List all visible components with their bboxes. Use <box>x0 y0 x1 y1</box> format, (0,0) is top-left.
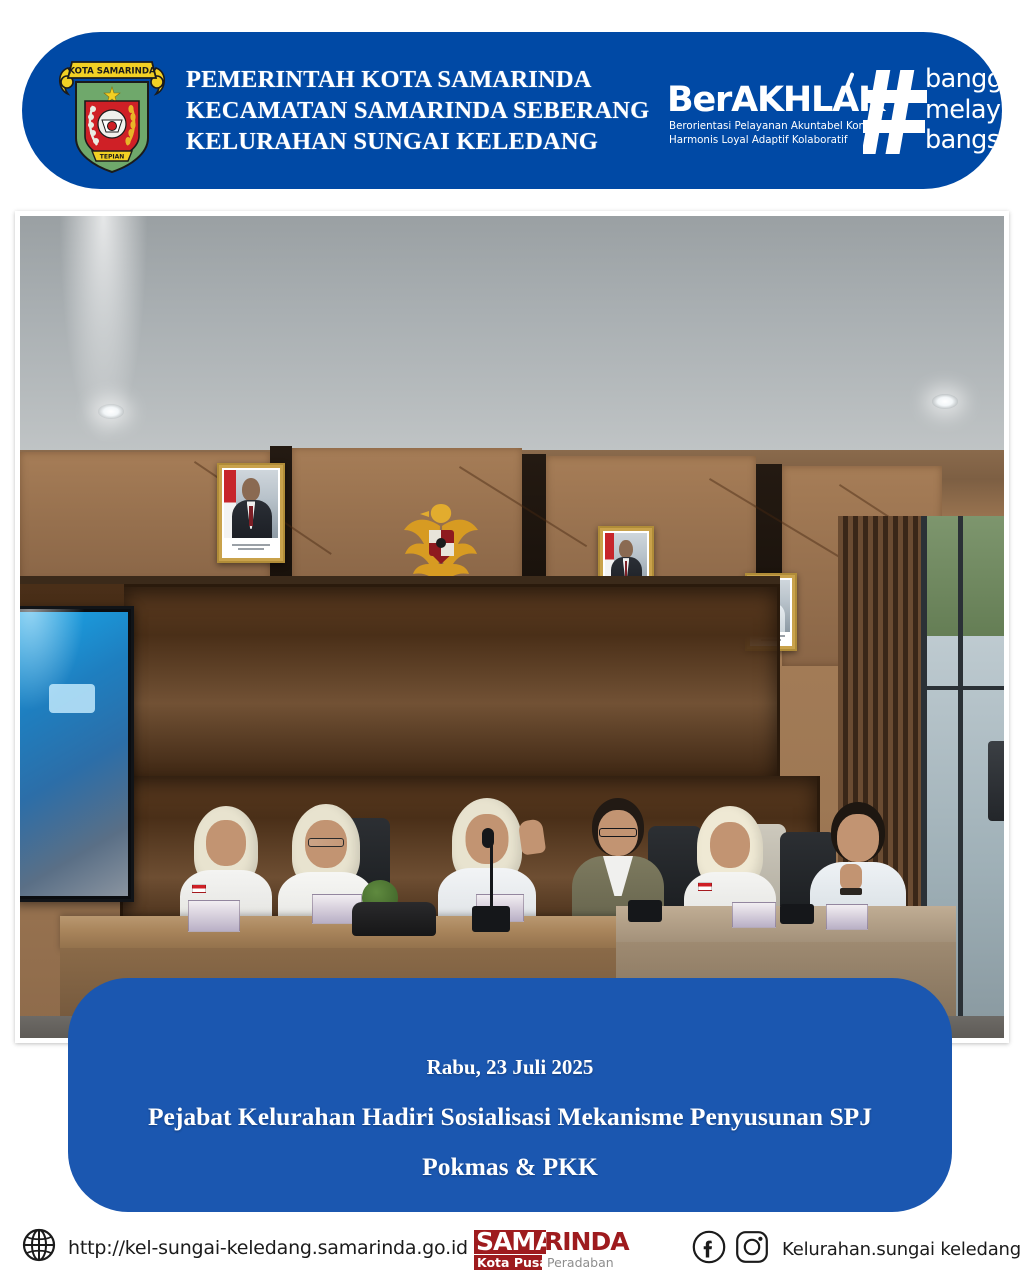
wall-monitor <box>20 606 134 902</box>
microphone-head-1 <box>482 828 494 848</box>
event-photo: SUKSES BERKELANJUTAN UNTUK SAMARINDA MAJ… <box>20 216 1004 1038</box>
document-stack-4 <box>732 902 776 928</box>
globe-icon <box>22 1228 56 1267</box>
resting-hand <box>840 864 862 890</box>
microphone-base-1 <box>472 906 510 932</box>
header-title-line-1: PEMERINTAH KOTA SAMARINDA <box>186 64 649 95</box>
slogan-line-1: bangga <box>925 64 1002 95</box>
microphone-stem-1 <box>490 844 493 908</box>
crest-motto-text: TEPIAN <box>100 153 125 160</box>
black-bag <box>352 902 436 936</box>
berakhlak-wordmark: BerAKHLAK <box>667 82 884 118</box>
ceiling-downlight-right <box>932 394 958 409</box>
website-group[interactable]: http://kel-sungai-keledang.samarinda.go.… <box>22 1228 468 1267</box>
samarinda-logo-part-1: SAMA <box>476 1230 554 1254</box>
instagram-icon[interactable] <box>735 1230 769 1269</box>
microphone-base-2 <box>628 900 662 922</box>
samarinda-logo-sub-1: Kota Pusat <box>477 1255 554 1270</box>
bangga-melayani-bangsa-slogan: bangga melayani bangsa <box>925 64 1002 156</box>
document-stack-5 <box>826 904 868 930</box>
window-mullion-horizontal <box>925 686 1004 690</box>
ceiling <box>20 216 1004 471</box>
caption-date: Rabu, 23 Juli 2025 <box>427 1055 594 1080</box>
wall-speaker <box>988 741 1004 821</box>
caption-panel: Rabu, 23 Juli 2025 Pejabat Kelurahan Had… <box>68 978 952 1212</box>
header-title-line-3: KELURAHAN SUNGAI KELEDANG <box>186 126 649 157</box>
eyeglasses-icon-2 <box>599 828 637 837</box>
header-banner: KOTA SAMARINDA <box>22 32 1002 189</box>
samarinda-logo-row-1: SAMA RINDA <box>474 1230 624 1254</box>
samarinda-logo-row-2: Kota Pusat Peradaban <box>474 1255 624 1270</box>
ceiling-downlight-left <box>98 404 124 419</box>
eyeglasses-icon <box>308 838 344 847</box>
window-foliage <box>925 516 1004 636</box>
microphone-base-3 <box>780 904 814 924</box>
header-title-block: PEMERINTAH KOTA SAMARINDA KECAMATAN SAMA… <box>186 64 649 157</box>
crest-ribbon-text: KOTA SAMARINDA <box>68 66 156 76</box>
window-mullion-vertical <box>958 516 963 1016</box>
berakhlak-logo: BerAKHLAK Berorientasi Pelayanan Akuntab… <box>667 58 997 166</box>
hashtag-icon <box>863 66 929 156</box>
wristwatch <box>840 888 862 895</box>
document-stack-1 <box>188 900 240 932</box>
samarinda-logo-sub-2: Peradaban <box>547 1255 614 1270</box>
event-photo-frame: SUKSES BERKELANJUTAN UNTUK SAMARINDA MAJ… <box>15 211 1009 1043</box>
footer-bar: http://kel-sungai-keledang.samarinda.go.… <box>0 1216 1024 1280</box>
official-portrait-president <box>217 463 285 563</box>
social-media-group[interactable]: Kelurahan.sungai keledang <box>692 1230 1021 1269</box>
samarinda-logo-part-2: RINDA <box>544 1230 629 1254</box>
kota-samarinda-crest-icon: KOTA SAMARINDA <box>52 46 172 176</box>
facebook-icon[interactable] <box>692 1230 726 1269</box>
caption-title-line-2: Pokmas & PKK <box>422 1152 598 1182</box>
slogan-line-3: bangsa <box>925 125 1002 156</box>
website-url[interactable]: http://kel-sungai-keledang.samarinda.go.… <box>68 1237 468 1259</box>
slogan-line-2: melayani <box>925 95 1002 126</box>
poster-root: KOTA SAMARINDA <box>0 0 1024 1280</box>
samarinda-city-logo: SAMA RINDA Kota Pusat Peradaban <box>474 1230 624 1270</box>
header-title-line-2: KECAMATAN SAMARINDA SEBERANG <box>186 95 649 126</box>
caption-title-line-1: Pejabat Kelurahan Hadiri Sosialisasi Mek… <box>148 1100 872 1134</box>
presentation-board <box>120 584 780 784</box>
social-media-handle[interactable]: Kelurahan.sungai keledang <box>782 1239 1021 1260</box>
